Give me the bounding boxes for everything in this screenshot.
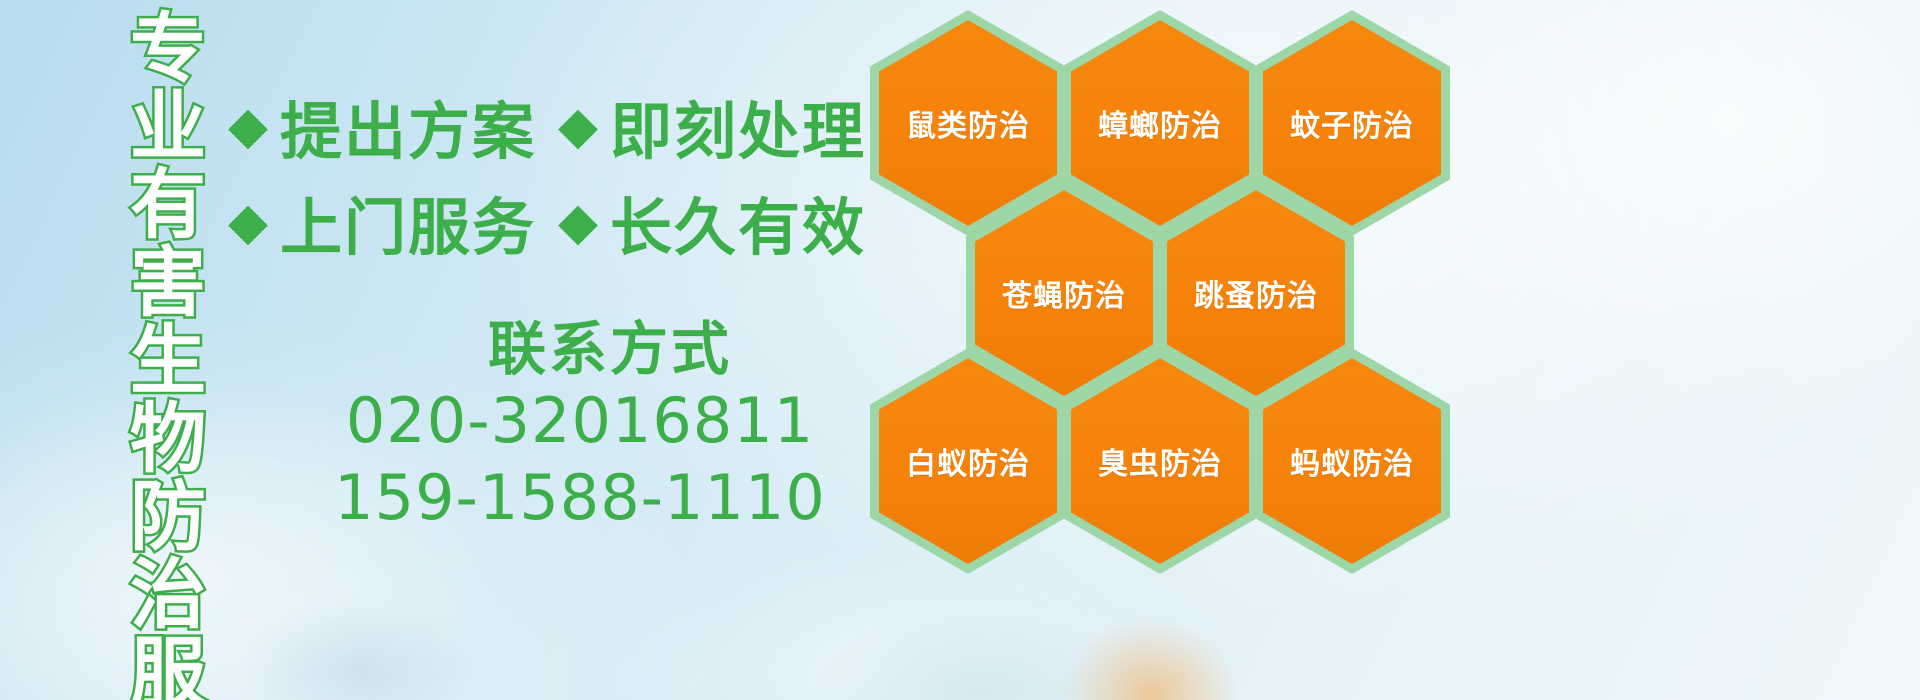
- hex-fill: 跳蚤防治: [1167, 190, 1345, 396]
- background-blotch-orange: [1060, 620, 1240, 700]
- feature-list: ◆ 提出方案 ◆ 即刻处理 ◆ 上门服务 ◆ 长久有效: [228, 78, 868, 270]
- contact-label: 联系方式: [360, 318, 860, 382]
- hex-fill: 臭虫防治: [1071, 358, 1249, 564]
- hex-label: 鼠类防治: [906, 101, 1030, 145]
- hex-fill: 苍蝇防治: [975, 190, 1153, 396]
- background-blotch-pale: [820, 610, 1140, 700]
- hex-fill: 鼠类防治: [879, 20, 1057, 226]
- vertical-headline: 专业有害生物防治服务: [104, 8, 200, 700]
- diamond-bullet-icon: ◆: [228, 196, 268, 248]
- hex-label: 跳蚤防治: [1194, 271, 1318, 315]
- feature-row-1: ◆ 提出方案 ◆ 即刻处理: [228, 78, 868, 174]
- background-blotch-left: [240, 600, 480, 700]
- hex-label: 蟑螂防治: [1098, 101, 1222, 145]
- diamond-bullet-icon: ◆: [228, 100, 268, 152]
- hex-label: 苍蝇防治: [1002, 271, 1126, 315]
- service-honeycomb: 鼠类防治 蟑螂防治 蚊子防治 苍蝇防治 跳蚤防治 白蚁防治: [862, 0, 1462, 560]
- feature-label-onsite-service: 上门服务: [280, 177, 536, 267]
- diamond-bullet-icon: ◆: [558, 100, 598, 152]
- background-glow-bottom-center: [600, 540, 1160, 700]
- phone-number-landline[interactable]: 020-32016811: [300, 382, 860, 460]
- hex-label: 蚊子防治: [1290, 101, 1414, 145]
- hex-fill: 蚊子防治: [1263, 20, 1441, 226]
- feature-row-2: ◆ 上门服务 ◆ 长久有效: [228, 174, 868, 270]
- hex-fill: 白蚁防治: [879, 358, 1057, 564]
- hex-fill: 蚂蚁防治: [1263, 358, 1441, 564]
- promo-banner: 专业有害生物防治服务 ◆ 提出方案 ◆ 即刻处理 ◆ 上门服务 ◆ 长久有效 联…: [0, 0, 1920, 700]
- hex-label: 臭虫防治: [1098, 439, 1222, 483]
- hex-fill: 蟑螂防治: [1071, 20, 1249, 226]
- feature-label-immediate-handling: 即刻处理: [610, 81, 866, 171]
- phone-number-mobile[interactable]: 159-1588-1110: [300, 459, 860, 537]
- hex-label: 白蚁防治: [906, 439, 1030, 483]
- hex-label: 蚂蚁防治: [1290, 439, 1414, 483]
- contact-block: 联系方式 020-32016811 159-1588-1110: [300, 318, 860, 537]
- feature-label-propose-plan: 提出方案: [280, 81, 536, 171]
- feature-label-long-lasting: 长久有效: [610, 177, 866, 267]
- diamond-bullet-icon: ◆: [558, 196, 598, 248]
